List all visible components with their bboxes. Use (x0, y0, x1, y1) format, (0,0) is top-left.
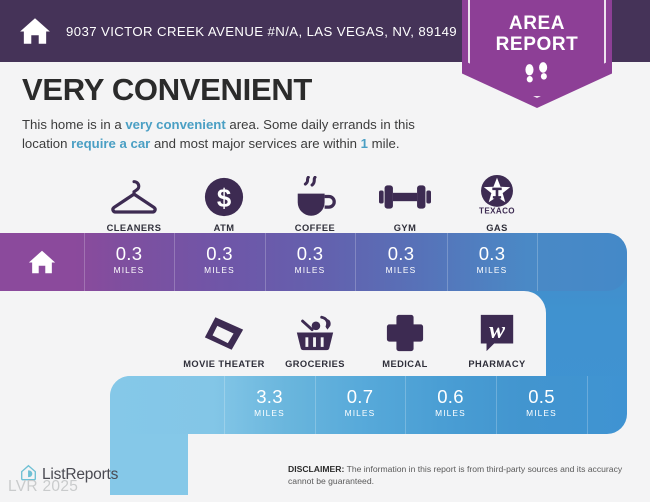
distance-unit: MILES (84, 265, 174, 275)
area-report-badge: AREA REPORT (462, 0, 612, 108)
distance-unit: MILES (224, 408, 315, 418)
summary-part-3: and most major services are within (150, 136, 360, 151)
summary-highlight-convenience: very convenient (125, 117, 225, 132)
amenity-medical: MEDICAL (360, 310, 450, 369)
badge-line-1: AREA (462, 13, 612, 34)
distance-unit: MILES (355, 265, 447, 275)
dumbbell-icon (360, 174, 450, 220)
distance-gym: 0.3 MILES (355, 233, 447, 291)
disclaimer: DISCLAIMER: The information in this repo… (288, 464, 636, 487)
amenity-atm: $ ATM (179, 174, 269, 233)
distance-value: 0.7 (315, 376, 405, 407)
amenity-label: ATM (179, 223, 269, 233)
amenity-label: GROCERIES (270, 359, 360, 369)
summary-highlight-distance: 1 (361, 136, 368, 151)
property-address: 9037 VICTOR CREEK AVENUE #N/A, LAS VEGAS… (66, 24, 457, 39)
amenity-label: COFFEE (270, 223, 360, 233)
home-marker (0, 233, 84, 291)
distance-value: 0.3 (174, 233, 265, 264)
amenity-movie-theater: MOVIE THEATER (179, 310, 269, 369)
distance-movie-theater: 3.3 MILES (224, 376, 315, 434)
distance-unit: MILES (315, 408, 405, 418)
amenity-label: MEDICAL (360, 359, 450, 369)
svg-text:$: $ (217, 185, 231, 213)
badge-line-2: REPORT (462, 34, 612, 55)
walgreens-w-icon: w (452, 310, 542, 356)
badge-title: AREA REPORT (462, 0, 612, 55)
amenity-pharmacy: w PHARMACY (452, 310, 542, 369)
distance-value: 0.3 (447, 233, 537, 264)
distance-unit: MILES (447, 265, 537, 275)
disclaimer-label: DISCLAIMER: (288, 464, 344, 474)
page-title: VERY CONVENIENT (22, 72, 312, 108)
distance-band-row-2: 3.3 MILES 0.7 MILES 0.6 MILES 0.5 MILES (110, 376, 627, 434)
lvr-watermark: LVR 2025 (8, 478, 78, 496)
amenity-gas: TEXACO GAS (452, 174, 542, 233)
dollar-circle-icon: $ (179, 174, 269, 220)
summary-highlight-transport: require a car (71, 136, 150, 151)
amenity-cleaners: CLEANERS (89, 174, 179, 233)
summary-part-1: This home is in a (22, 117, 125, 132)
distance-value: 0.6 (405, 376, 496, 407)
distance-medical: 0.6 MILES (405, 376, 496, 434)
amenity-gym: GYM (360, 174, 450, 233)
distance-unit: MILES (496, 408, 587, 418)
distance-pharmacy: 0.5 MILES (496, 376, 587, 434)
distance-atm: 0.3 MILES (174, 233, 265, 291)
svg-text:TEXACO: TEXACO (479, 206, 515, 215)
amenity-groceries: GROCERIES (270, 310, 360, 369)
amenity-label: GAS (452, 223, 542, 233)
distance-unit: MILES (174, 265, 265, 275)
distance-unit: MILES (265, 265, 355, 275)
svg-text:w: w (489, 318, 505, 344)
distance-value: 0.3 (265, 233, 355, 264)
distance-coffee: 0.3 MILES (265, 233, 355, 291)
distance-value: 0.3 (84, 233, 174, 264)
distance-band-row-1: 0.3 MILES 0.3 MILES 0.3 MILES 0.3 MILES … (0, 233, 627, 291)
grocery-basket-icon (270, 310, 360, 356)
amenity-coffee: COFFEE (270, 174, 360, 233)
texaco-star-icon: TEXACO (452, 174, 542, 220)
amenity-label: PHARMACY (452, 359, 542, 369)
distance-gas: 0.3 MILES (447, 233, 537, 291)
coffee-cup-icon (270, 174, 360, 220)
hanger-icon (89, 174, 179, 220)
home-icon (18, 14, 52, 48)
area-report-page: 9037 VICTOR CREEK AVENUE #N/A, LAS VEGAS… (0, 0, 650, 502)
amenity-label: MOVIE THEATER (179, 359, 269, 369)
distance-groceries: 0.7 MILES (315, 376, 405, 434)
distance-value: 0.3 (355, 233, 447, 264)
amenity-label: GYM (360, 223, 450, 233)
summary-text: This home is in a very convenient area. … (22, 116, 454, 153)
distance-cleaners: 0.3 MILES (84, 233, 174, 291)
distance-value: 0.5 (496, 376, 587, 407)
summary-part-4: mile. (368, 136, 400, 151)
movie-ticket-icon (179, 310, 269, 356)
distance-value: 3.3 (224, 376, 315, 407)
distance-unit: MILES (405, 408, 496, 418)
footprints-icon (521, 62, 553, 92)
amenity-label: CLEANERS (89, 223, 179, 233)
medical-cross-icon (360, 310, 450, 356)
